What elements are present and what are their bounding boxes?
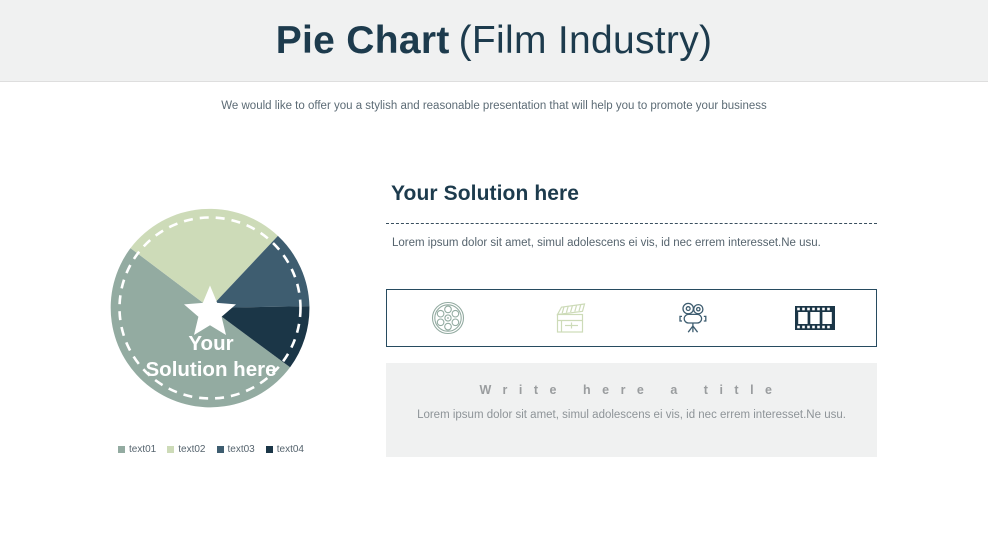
film-icons-panel xyxy=(386,289,877,347)
page-title-bold: Pie Chart xyxy=(276,19,450,63)
legend-item-text03[interactable]: text03 xyxy=(217,444,255,455)
solution-section: Your Solution here Lorem ipsum dolor sit… xyxy=(386,182,877,249)
legend-label: text01 xyxy=(129,444,156,455)
slide-subtitle: We would like to offer you a stylish and… xyxy=(0,100,988,112)
legend-item-text02[interactable]: text02 xyxy=(167,444,205,455)
icon-cell-movie-camera[interactable] xyxy=(632,290,754,346)
solution-heading: Your Solution here xyxy=(391,182,877,206)
pie-chart-svg xyxy=(88,190,334,426)
page-title-regular: (Film Industry) xyxy=(459,19,713,63)
page-title: Pie Chart (Film Industry) xyxy=(0,0,988,82)
icon-cell-clapperboard[interactable] xyxy=(509,290,631,346)
pie-chart: Your Solution here xyxy=(88,190,334,426)
legend-item-text01[interactable]: text01 xyxy=(118,444,156,455)
write-title-body: Lorem ipsum dolor sit amet, simul adoles… xyxy=(386,409,877,421)
write-title-heading: Write here a title xyxy=(406,383,857,397)
legend-label: text03 xyxy=(228,444,255,455)
legend-label: text04 xyxy=(277,444,304,455)
solution-divider xyxy=(386,223,877,224)
icon-cell-filmstrip[interactable] xyxy=(754,290,876,346)
write-title-panel: Write here a title Lorem ipsum dolor sit… xyxy=(386,363,877,457)
filmstrip-icon xyxy=(795,306,835,330)
solution-body-text: Lorem ipsum dolor sit amet, simul adoles… xyxy=(392,237,877,249)
chart-legend: text01 text02 text03 text04 xyxy=(88,444,334,455)
legend-label: text02 xyxy=(178,444,205,455)
movie-camera-icon xyxy=(675,300,711,336)
film-reel-icon xyxy=(431,301,465,335)
legend-item-text04[interactable]: text04 xyxy=(266,444,304,455)
legend-swatch-icon xyxy=(266,446,273,453)
legend-swatch-icon xyxy=(118,446,125,453)
legend-swatch-icon xyxy=(167,446,174,453)
legend-swatch-icon xyxy=(217,446,224,453)
icon-cell-film-reel[interactable] xyxy=(387,290,509,346)
clapperboard-icon xyxy=(552,301,588,335)
